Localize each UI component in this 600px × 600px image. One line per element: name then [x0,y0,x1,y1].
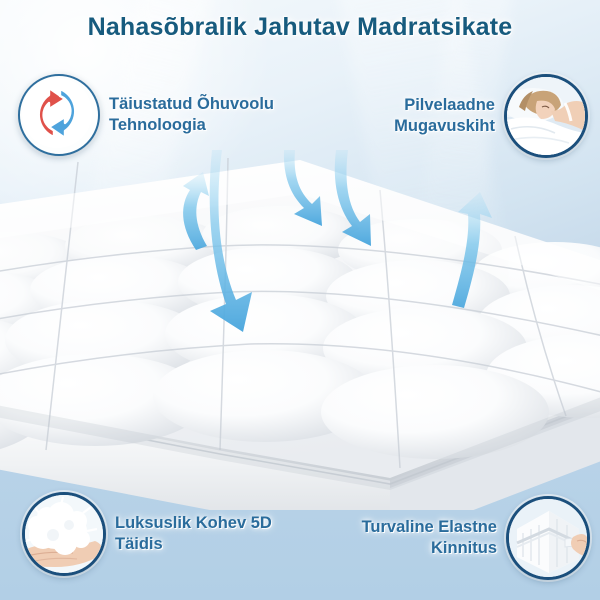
callout-fill-label: Luksuslik Kohev 5D Täidis [115,513,272,555]
callout-fill: Luksuslik Kohev 5D Täidis [22,492,272,576]
callout-straps-label: Turvaline Elastne Kinnitus [362,517,497,559]
fiber-fill-in-hand-photo [22,492,106,576]
page-title: Nahasõbralik Jahutav Madratsikate [0,13,600,42]
elastic-corner-strap-photo [506,496,590,580]
sleeping-woman-photo [504,74,588,158]
callout-comfort-label: Pilvelaadne Mugavuskiht [394,95,495,137]
callout-airflow-label: Täiustatud Õhuvoolu Tehnoloogia [109,94,274,136]
callout-comfort: Pilvelaadne Mugavuskiht [394,74,588,158]
callout-airflow: Täiustatud Õhuvoolu Tehnoloogia [18,74,274,156]
mattress-topper-image [0,150,600,510]
airflow-cycle-icon [18,74,100,156]
product-infographic: Nahasõbralik Jahutav Madratsikate Täiust… [0,0,600,600]
callout-straps: Turvaline Elastne Kinnitus [362,496,590,580]
